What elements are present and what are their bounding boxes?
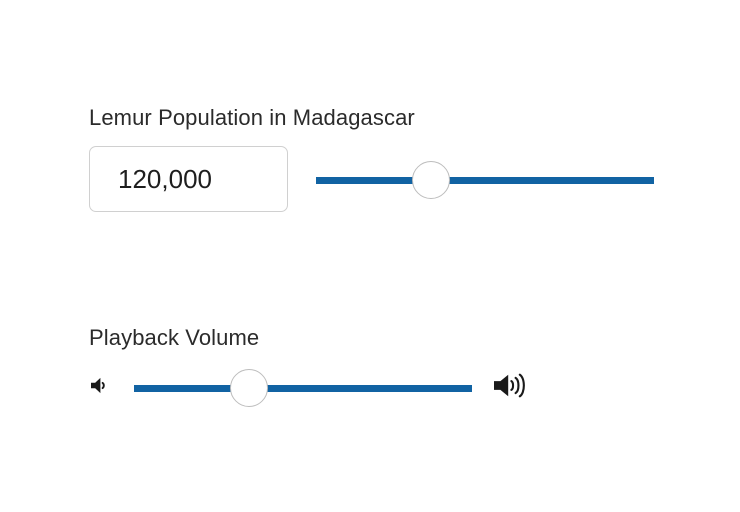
population-field-row [89, 146, 689, 216]
population-slider-track[interactable] [316, 177, 654, 184]
page-root: Lemur Population in Madagascar Playback … [0, 0, 740, 512]
population-slider-thumb[interactable] [412, 161, 450, 199]
volume-low-icon[interactable] [89, 375, 111, 402]
volume-slider-thumb[interactable] [230, 369, 268, 407]
population-input[interactable] [89, 146, 288, 212]
volume-slider-track[interactable] [134, 385, 472, 392]
volume-slider[interactable] [134, 368, 472, 408]
volume-field-row [89, 366, 689, 410]
volume-field-label: Playback Volume [89, 324, 689, 352]
volume-high-icon[interactable] [493, 371, 527, 406]
population-field-group: Lemur Population in Madagascar [89, 104, 689, 216]
population-slider[interactable] [316, 160, 654, 200]
population-field-label: Lemur Population in Madagascar [89, 104, 689, 132]
volume-field-group: Playback Volume [89, 324, 689, 410]
